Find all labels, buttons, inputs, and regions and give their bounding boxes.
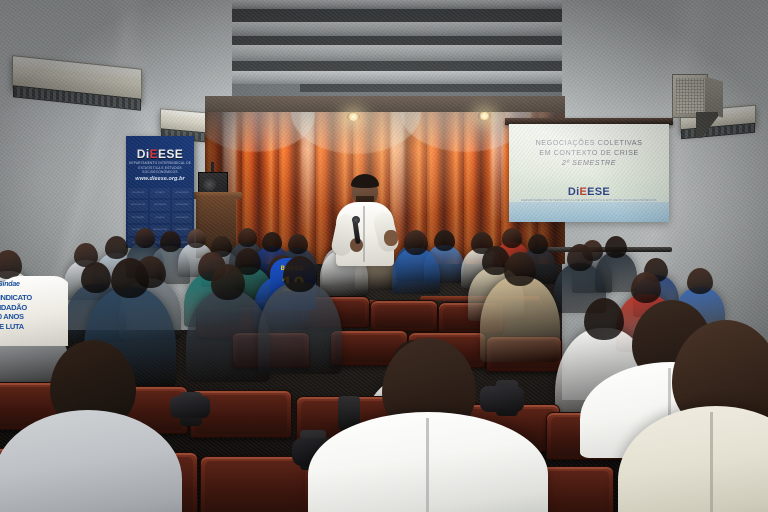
tshirt-brand: Sindae (0, 281, 20, 288)
presenter-shirt-placket (363, 206, 365, 262)
banner-tile: projeto (150, 213, 170, 223)
audience-member (392, 230, 440, 301)
wall-loudspeaker (672, 74, 708, 118)
audience-member-head (0, 250, 22, 279)
speaker-side-panel (705, 76, 723, 117)
audience-member-head (528, 234, 548, 254)
banner-tile: pesquisa (128, 188, 148, 198)
banner-tile: assessoria (128, 200, 148, 210)
shirt-seam (426, 418, 429, 512)
auditorium-seat (200, 456, 310, 512)
audience-member-head (288, 234, 308, 254)
audience-member-head (211, 264, 245, 300)
screen-glare (509, 124, 669, 222)
projection-screen: NEGOCIAÇÕES COLETIVAS EM CONTEXTO DE CRI… (509, 124, 669, 222)
audience-member-head (283, 256, 317, 292)
sindae-tshirt: Sindae SINDICATO CIDADÃO 30 ANOS DE LUTA (0, 276, 68, 346)
auditorium-photo: DiEESE DEPARTAMENTO INTERSINDICAL DE EST… (0, 0, 768, 512)
banner-tile: pesquisa (150, 200, 170, 210)
banner-url: www.dieese.org.br (126, 176, 194, 182)
audience-member-head (567, 244, 593, 271)
tshirt-slogan-line-1: SINDICATO (0, 293, 32, 303)
tshirt-slogan-line-2: CIDADÃO (0, 303, 32, 313)
audience-member-head (687, 268, 713, 294)
speaker-grill (676, 78, 704, 114)
audience-member-head (504, 252, 536, 286)
attendee-shirt (0, 410, 182, 512)
foreground-attendee-center (308, 338, 548, 512)
banner-tile: educação (172, 188, 192, 198)
ceiling-spotlight (347, 113, 360, 121)
auditorium-seat (370, 300, 438, 332)
tshirt-slogan: SINDICATO CIDADÃO 30 ANOS DE LUTA (0, 293, 32, 331)
tshirt-slogan-line-4: DE LUTA (0, 322, 32, 332)
audience-member-head (404, 230, 428, 255)
banner-tile: formação (128, 213, 148, 223)
seat-cushion (375, 305, 433, 328)
foreground-attendee-left (0, 340, 180, 512)
banner-subtitle: DEPARTAMENTO INTERSINDICAL DE ESTATÍSTIC… (126, 161, 194, 175)
microphone-head (352, 216, 360, 224)
audience-member-head (605, 236, 627, 258)
banner-logo: DiEESE (126, 147, 194, 161)
tshirt-slogan-line-3: 30 ANOS (0, 312, 32, 322)
banner-tile: educação (172, 200, 192, 210)
banner-tile: educação (172, 213, 192, 223)
shirt-seam (710, 412, 713, 512)
seat-cushion (205, 461, 305, 512)
audience-member-head (111, 258, 149, 298)
banner-tile: projeto (150, 188, 170, 198)
attendee-shirt (618, 406, 768, 512)
banner-logo-red-letter: E (150, 147, 158, 161)
presenter-hand-right (384, 230, 398, 246)
ceiling-spotlight (478, 112, 491, 120)
foreground-attendee-right (618, 320, 768, 512)
